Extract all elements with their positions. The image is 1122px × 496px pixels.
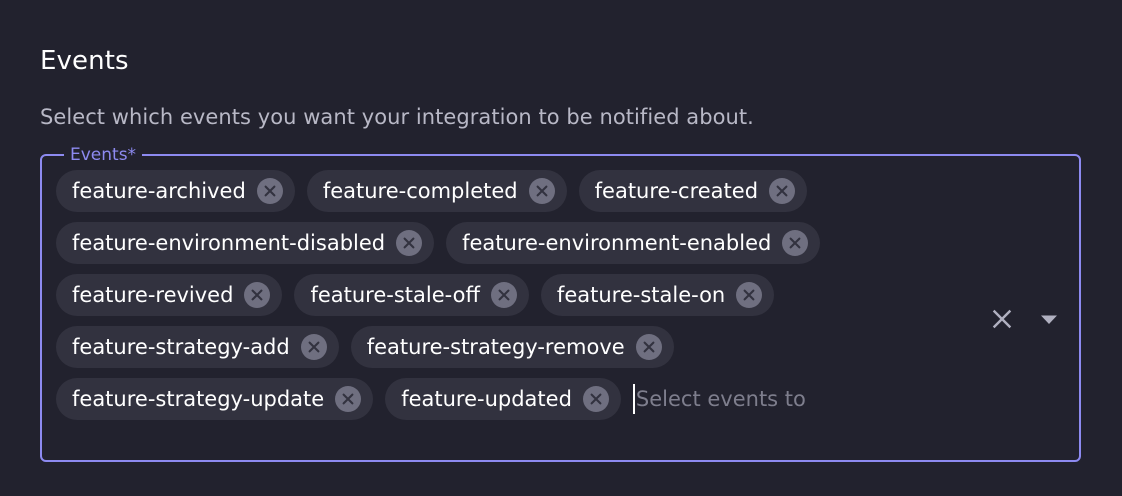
chevron-down-icon xyxy=(1037,307,1061,331)
event-chip[interactable]: feature-archived xyxy=(56,170,295,212)
clear-button[interactable] xyxy=(987,304,1017,334)
event-chip[interactable]: feature-environment-enabled xyxy=(446,222,820,264)
event-chip[interactable]: feature-stale-on xyxy=(541,274,774,316)
event-chip-label: feature-stale-off xyxy=(310,274,479,316)
cancel-circle-icon[interactable] xyxy=(782,230,808,256)
event-chip-label: feature-strategy-remove xyxy=(367,326,625,368)
cancel-circle-icon[interactable] xyxy=(301,334,327,360)
selected-events-chip-list: feature-archivedfeature-completedfeature… xyxy=(56,170,946,420)
event-chip[interactable]: feature-strategy-update xyxy=(56,378,373,420)
dropdown-toggle-button[interactable] xyxy=(1037,307,1061,331)
event-chip-label: feature-archived xyxy=(72,170,246,212)
text-caret xyxy=(633,384,635,414)
event-chip-label: feature-strategy-update xyxy=(72,378,324,420)
cancel-circle-icon[interactable] xyxy=(529,178,555,204)
event-chip[interactable]: feature-updated xyxy=(385,378,621,420)
event-chip-label: feature-environment-disabled xyxy=(72,222,385,264)
event-chip-label: feature-created xyxy=(595,170,758,212)
cancel-circle-icon[interactable] xyxy=(583,386,609,412)
cancel-circle-icon[interactable] xyxy=(396,230,422,256)
event-chip-label: feature-stale-on xyxy=(557,274,725,316)
cancel-circle-icon[interactable] xyxy=(636,334,662,360)
events-search-input-wrap[interactable]: Select events to xyxy=(633,378,946,420)
cancel-circle-icon[interactable] xyxy=(257,178,283,204)
event-chip[interactable]: feature-completed xyxy=(307,170,567,212)
page-title: Events xyxy=(40,48,1082,74)
event-chip-label: feature-revived xyxy=(72,274,233,316)
event-chip-label: feature-environment-enabled xyxy=(462,222,771,264)
event-chip[interactable]: feature-environment-disabled xyxy=(56,222,434,264)
event-chip[interactable]: feature-strategy-add xyxy=(56,326,339,368)
cancel-circle-icon[interactable] xyxy=(335,386,361,412)
event-chip[interactable]: feature-stale-off xyxy=(294,274,528,316)
section-description: Select which events you want your integr… xyxy=(40,107,1082,128)
events-search-placeholder: Select events to xyxy=(636,378,806,420)
event-chip-label: feature-completed xyxy=(323,170,518,212)
field-adornments xyxy=(987,304,1061,334)
event-chip-label: feature-strategy-add xyxy=(72,326,290,368)
events-multiselect-field[interactable]: Events* feature-archivedfeature-complete… xyxy=(40,154,1081,462)
clear-icon xyxy=(987,304,1017,334)
events-settings-page: Events Select which events you want your… xyxy=(0,0,1122,496)
cancel-circle-icon[interactable] xyxy=(769,178,795,204)
event-chip[interactable]: feature-strategy-remove xyxy=(351,326,674,368)
cancel-circle-icon[interactable] xyxy=(244,282,270,308)
cancel-circle-icon[interactable] xyxy=(736,282,762,308)
events-field-legend: Events* xyxy=(64,145,142,165)
event-chip-label: feature-updated xyxy=(401,378,572,420)
event-chip[interactable]: feature-revived xyxy=(56,274,282,316)
cancel-circle-icon[interactable] xyxy=(491,282,517,308)
event-chip[interactable]: feature-created xyxy=(579,170,807,212)
